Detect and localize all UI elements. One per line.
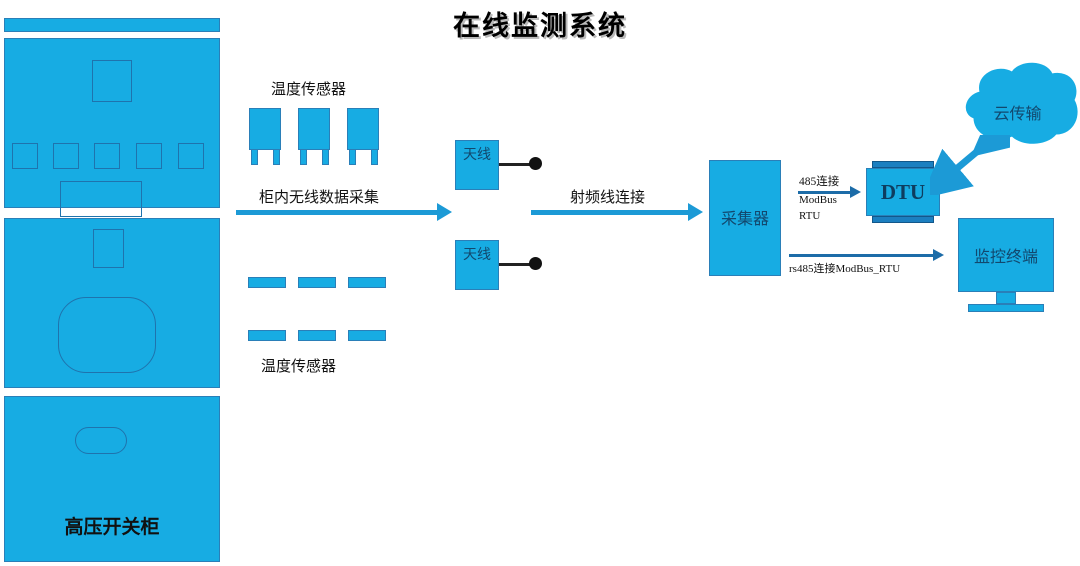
antenna-bottom-element-icon — [529, 257, 542, 270]
dtu-cloud-double-arrow — [930, 135, 1010, 195]
monitor-label: 监控终端 — [958, 243, 1054, 267]
rs485-upper-label-3: RTU — [799, 210, 820, 222]
cabinet-switch-1 — [12, 143, 38, 169]
cabinet-display-rect — [60, 181, 142, 217]
cabinet-upper-panel — [4, 38, 220, 208]
rs485-lower-arrow-line — [789, 254, 934, 257]
cabinet-switch-4 — [136, 143, 162, 169]
wireless-flow-label: 柜内无线数据采集 — [259, 186, 379, 207]
rf-flow-label: 射频线连接 — [570, 186, 645, 207]
rs485-lower-label: rs485连接ModBus_RTU — [789, 260, 900, 276]
antenna-top-wire — [499, 163, 531, 166]
antenna-top-label: 天线 — [463, 148, 491, 163]
cabinet-switch-2 — [53, 143, 79, 169]
rs485-upper-label-1: 485连接 — [799, 173, 839, 189]
cabinet-switch-3 — [94, 143, 120, 169]
monitor-base — [968, 304, 1044, 312]
cabinet-handle-pill — [75, 427, 127, 454]
cabinet-breaker-oval — [58, 297, 156, 373]
cabinet-name-label: 高压开关柜 — [4, 512, 220, 539]
temperature-sensor-bottom-label: 温度传感器 — [261, 355, 336, 376]
antenna-bottom-wire — [499, 263, 531, 266]
cabinet-switch-5 — [178, 143, 204, 169]
antenna-top: 天线 — [455, 140, 499, 190]
cabinet-middle-panel — [4, 218, 220, 388]
rs485-lower-arrow-head — [933, 249, 944, 261]
antenna-bottom: 天线 — [455, 240, 499, 290]
rs485-upper-arrow-head — [850, 186, 861, 198]
cabinet-meter-square — [92, 60, 132, 102]
dtu-rail-top — [872, 161, 934, 168]
dtu-label: DTU — [866, 180, 940, 205]
monitor-neck — [996, 292, 1016, 304]
cloud-label: 云传输 — [955, 100, 1080, 124]
collector-label: 采集器 — [709, 205, 781, 229]
dtu-rail-bottom — [872, 216, 934, 223]
antenna-bottom-label: 天线 — [463, 248, 491, 263]
rs485-upper-label-2: ModBus — [799, 194, 837, 206]
cabinet-gauge-square — [93, 229, 124, 268]
temperature-sensor-top-label: 温度传感器 — [271, 78, 346, 99]
cabinet-top-bar — [4, 18, 220, 32]
antenna-top-element-icon — [529, 157, 542, 170]
